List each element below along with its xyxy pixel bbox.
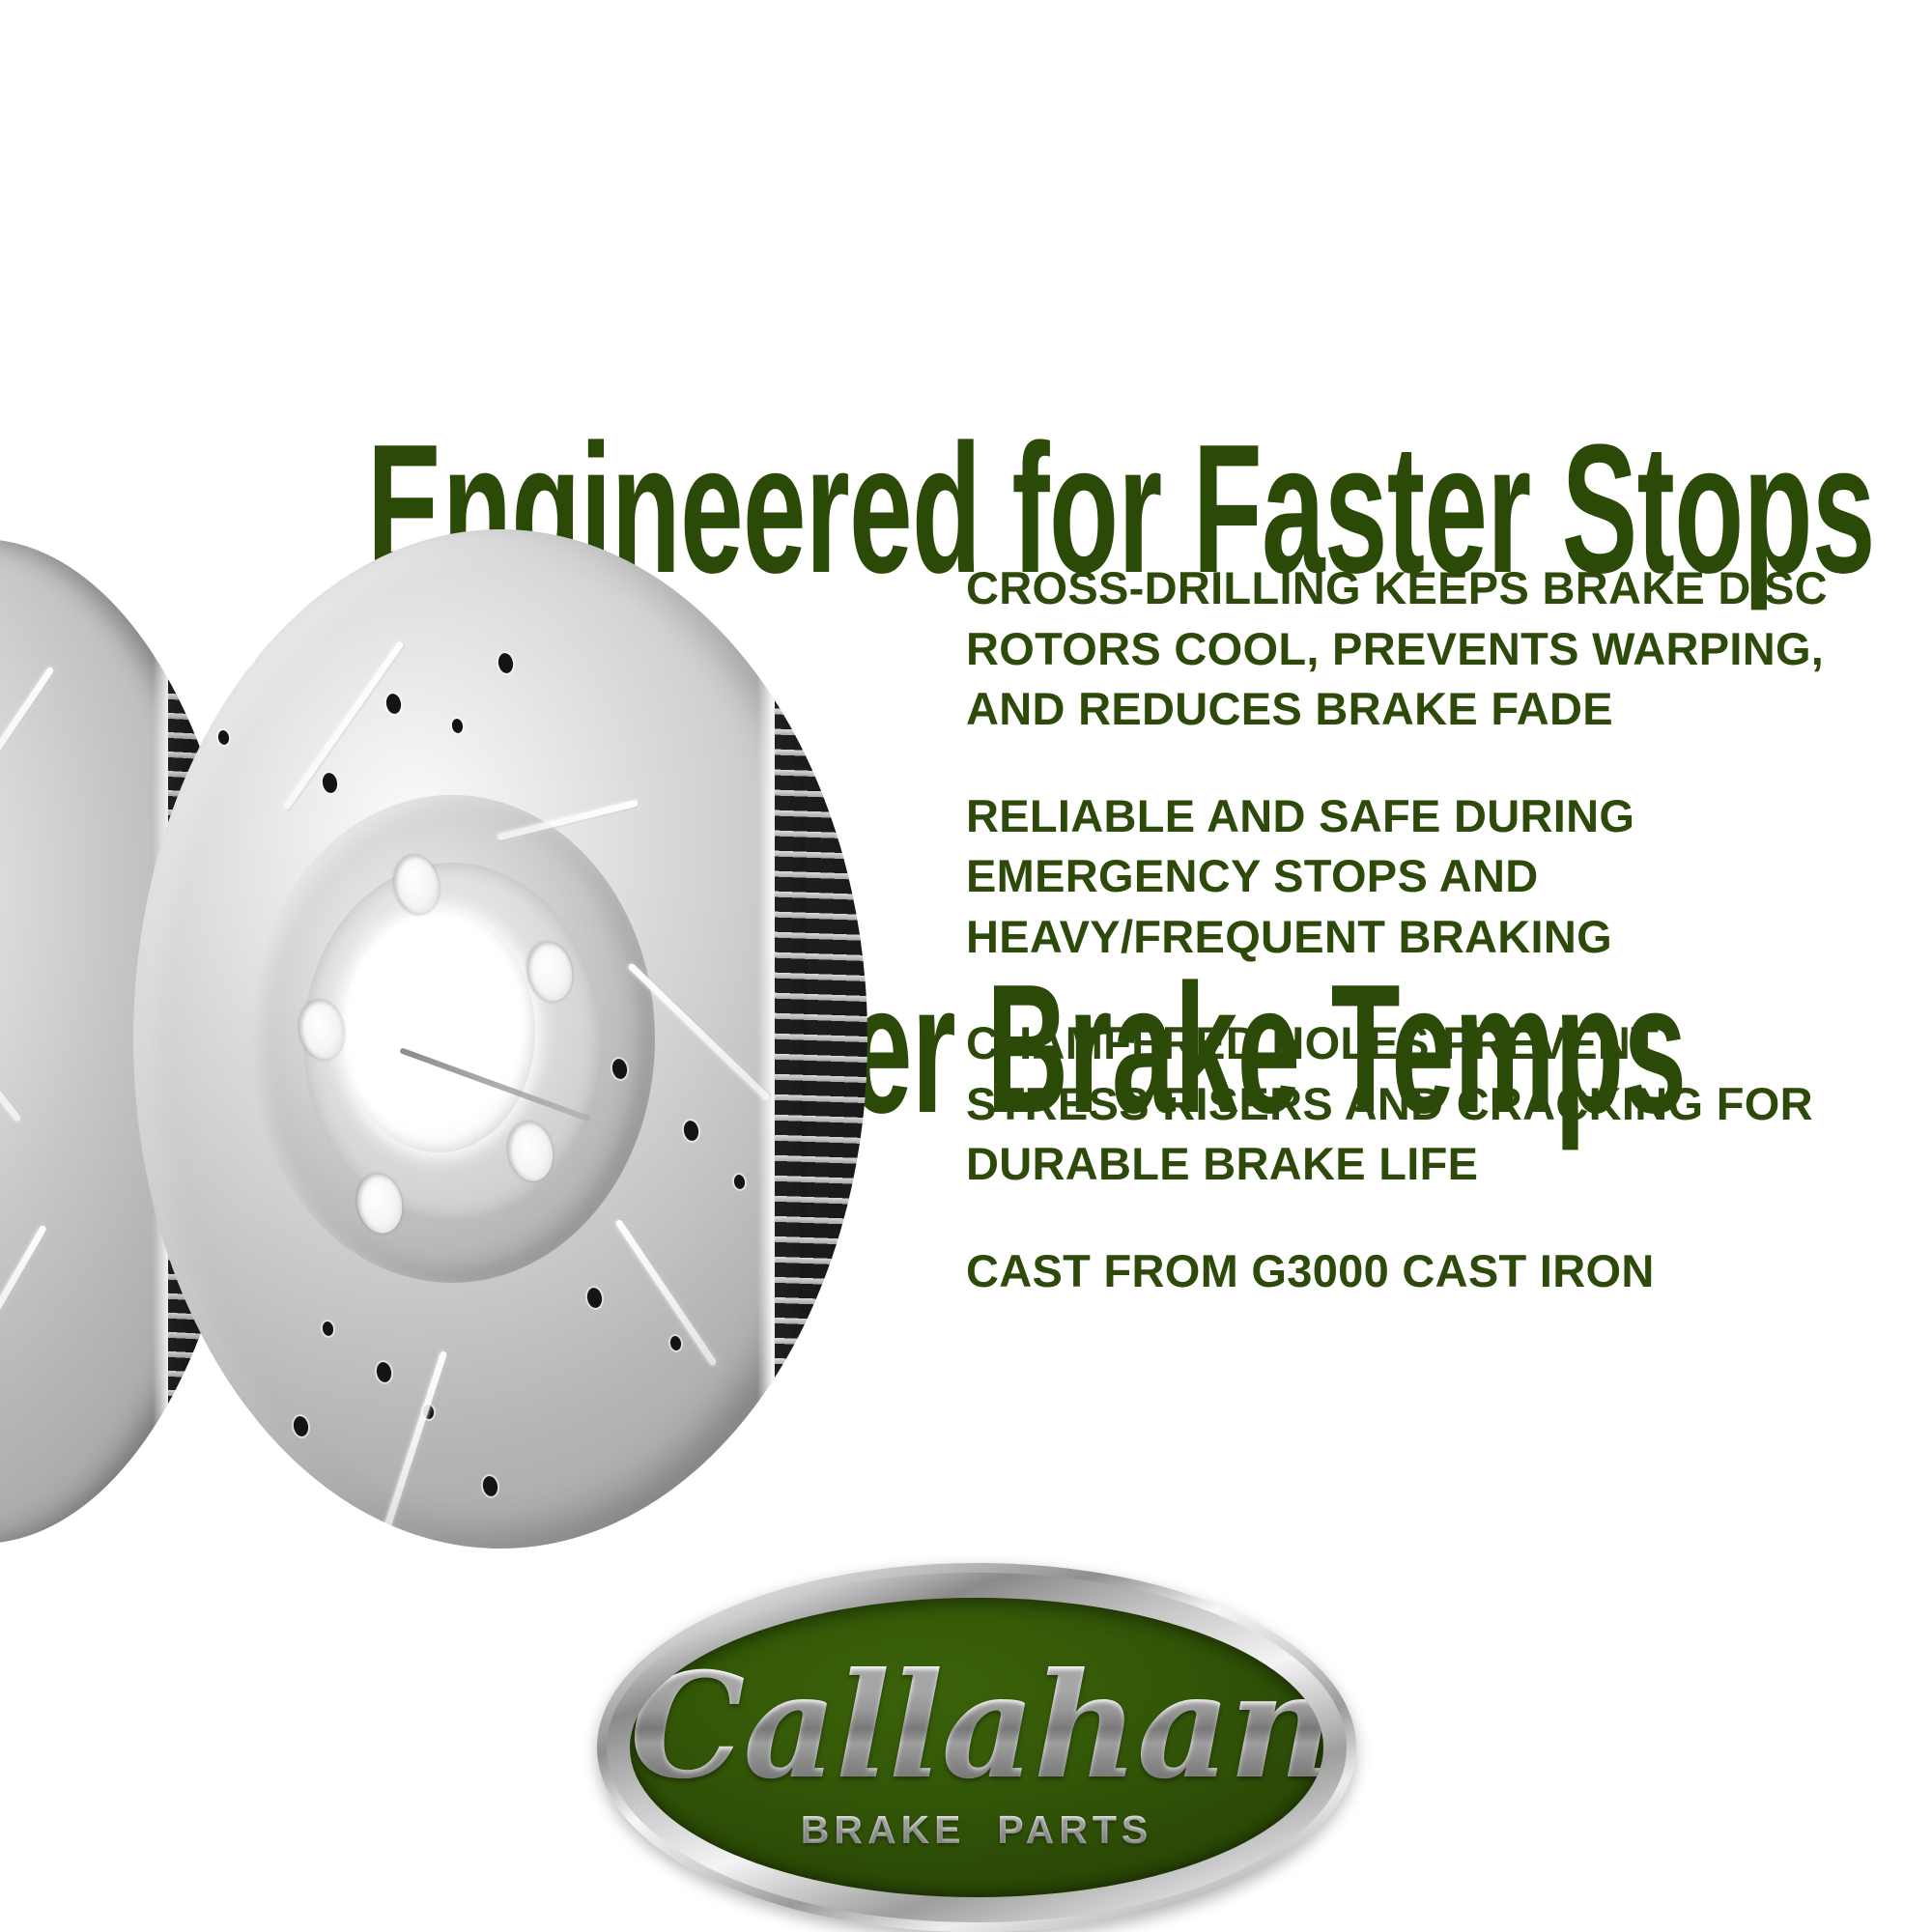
front-brake-rotor [133, 529, 867, 1548]
logo-green-face: Callahan BRAKE PARTS [630, 1598, 1323, 1897]
feature-list: CROSS-DRILLING KEEPS BRAKE DISC ROTORS C… [966, 558, 1835, 1301]
rotor-hub [249, 795, 655, 1283]
logo-brand-name: Callahan [630, 1654, 1323, 1799]
logo-tagline: BRAKE PARTS [630, 1807, 1323, 1853]
rotor-center-bore [342, 911, 535, 1152]
feature-item: CHAMFERED HOLES PREVENT STRESS RISERS AN… [966, 1013, 1835, 1195]
callahan-brake-parts-logo: Callahan BRAKE PARTS [597, 1563, 1356, 1932]
rotor-vent-fins [775, 581, 867, 1498]
product-feature-graphic: Engineered for Faster Stops and Cooler B… [0, 0, 1932, 1932]
feature-item: CROSS-DRILLING KEEPS BRAKE DISC ROTORS C… [966, 558, 1835, 740]
feature-item: RELIABLE AND SAFE DURING EMERGENCY STOPS… [966, 786, 1835, 968]
feature-item: CAST FROM G3000 CAST IRON [966, 1241, 1835, 1302]
brake-rotor-product-image [0, 522, 908, 1555]
